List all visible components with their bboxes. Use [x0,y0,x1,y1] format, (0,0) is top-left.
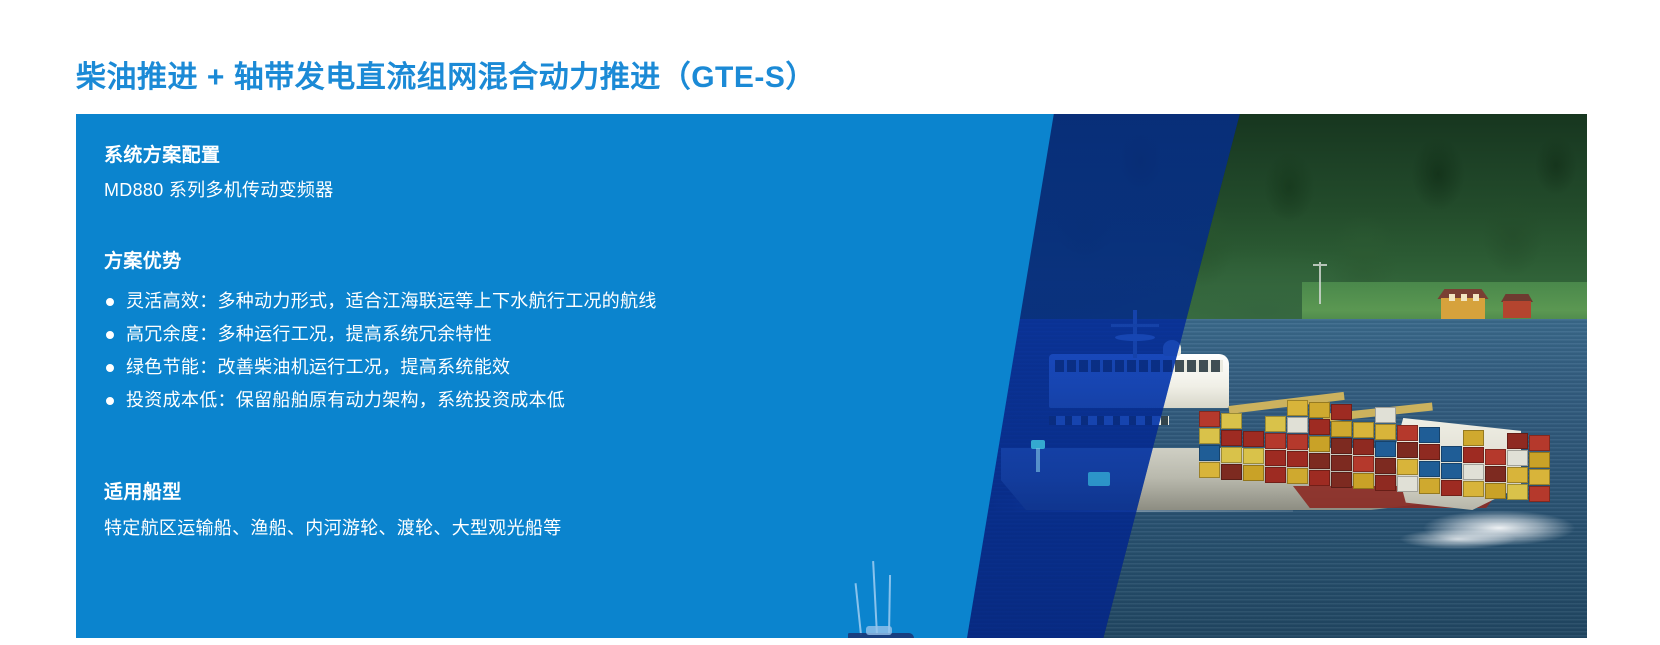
shipping-container [1353,439,1374,455]
bullet-dot-icon [106,364,114,372]
sailboat-cabin [866,626,892,635]
shipping-container [1309,419,1330,435]
shipping-container [1441,446,1462,462]
shipping-container [1463,447,1484,463]
shipping-container [1265,467,1286,483]
list-item: 绿色节能：改善柴油机运行工况，提高系统能效 [104,351,864,384]
shipping-container [1287,468,1308,484]
shipping-container [1221,430,1242,446]
spacer [104,433,864,477]
shipping-container [1529,469,1550,485]
shipping-container [1397,442,1418,458]
shipping-container [1419,444,1440,460]
shipping-container [1529,486,1550,502]
shipping-container [1375,475,1396,491]
shipping-container [1485,449,1506,465]
shipping-container [1463,481,1484,497]
config-heading: 系统方案配置 [104,140,864,167]
shipping-container [1199,445,1220,461]
shipping-container [1221,464,1242,480]
shipping-container [1309,402,1330,418]
bullet-dot-icon [106,397,114,405]
house-window [1473,294,1479,301]
shipping-container [1419,478,1440,494]
shipping-container [1375,424,1396,440]
shipping-container [1375,407,1396,423]
shipping-container [1243,465,1264,481]
slide-page: 柴油推进 + 轴带发电直流组网混合动力推进（GTE-S） [0,0,1660,645]
shipping-container [1331,472,1352,488]
shipping-container [1331,438,1352,454]
shipping-container [1441,463,1462,479]
panel-content: 系统方案配置 MD880 系列多机传动变频器 方案优势 灵活高效：多种动力形式，… [104,140,864,540]
ship-photo [967,114,1587,638]
advantages-list: 灵活高效：多种动力形式，适合江海联运等上下水航行工况的航线 高冗余度：多种运行工… [104,285,864,417]
shipping-container [1375,458,1396,474]
shipping-container [1199,428,1220,444]
shipping-container [1331,455,1352,471]
shipping-container [1529,435,1550,451]
shipping-container [1287,451,1308,467]
bullet-dot-icon [106,331,114,339]
house-window [1449,294,1455,301]
shipping-container [1331,404,1352,420]
list-item-label: 高冗余度：多种运行工况，提高系统冗余特性 [126,324,492,344]
shipping-container [1309,453,1330,469]
shipping-container [1221,413,1242,429]
list-item: 灵活高效：多种动力形式，适合江海联运等上下水航行工况的航线 [104,285,864,318]
shipping-container [1419,427,1440,443]
list-item-label: 灵活高效：多种动力形式，适合江海联运等上下水航行工况的航线 [126,291,657,311]
shipping-container [1265,433,1286,449]
shipping-container [1441,480,1462,496]
shipping-container [1353,456,1374,472]
shipping-container [1397,425,1418,441]
shipping-container [1375,441,1396,457]
navigation-marker [1088,472,1110,486]
shipping-container [1265,416,1286,432]
shipping-container [1309,470,1330,486]
shipping-container [1397,459,1418,475]
shipping-container [1397,476,1418,492]
advantages-heading: 方案优势 [104,246,864,273]
shipping-container [1331,421,1352,437]
shipping-container [1507,433,1528,449]
list-item-label: 投资成本低：保留船舶原有动力架构，系统投资成本低 [126,390,565,410]
shipping-container [1265,450,1286,466]
buoy-stem [1036,448,1040,472]
ship-types-heading: 适用船型 [104,477,864,504]
sailboat [836,559,946,638]
list-item-label: 绿色节能：改善柴油机运行工况，提高系统能效 [126,357,510,377]
list-item: 高冗余度：多种运行工况，提高系统冗余特性 [104,318,864,351]
shipping-container [1309,436,1330,452]
shipping-container [1507,450,1528,466]
bullet-dot-icon [106,298,114,306]
shipping-container [1463,430,1484,446]
shipping-container [1243,448,1264,464]
shipping-container [1287,417,1308,433]
shipping-container [1353,422,1374,438]
utility-pole [1319,262,1321,304]
sailboat-mast [872,561,878,635]
shipping-container [1287,400,1308,416]
sailboat-mast [855,583,862,635]
page-title: 柴油推进 + 轴带发电直流组网混合动力推进（GTE-S） [76,52,816,96]
bow-wave-secondary [1383,526,1533,552]
list-item: 投资成本低：保留船舶原有动力架构，系统投资成本低 [104,384,864,417]
shipping-container [1485,483,1506,499]
house-window [1461,294,1467,301]
shipping-container [1507,467,1528,483]
navigation-buoy [1031,440,1045,472]
shipping-container [1485,466,1506,482]
shipping-container [1199,462,1220,478]
shipping-container [1199,411,1220,427]
shipping-container [1221,447,1242,463]
shipping-container [1507,484,1528,500]
shipping-container [1243,431,1264,447]
shipping-container [1463,464,1484,480]
ship-types-value: 特定航区运输船、渔船、内河游轮、渡轮、大型观光船等 [104,514,864,540]
shipping-container [1287,434,1308,450]
shipping-container [1529,452,1550,468]
container-ship [993,310,1553,540]
shipping-container [1419,461,1440,477]
config-value: MD880 系列多机传动变频器 [104,176,864,202]
spacer [104,202,864,246]
content-panel: 系统方案配置 MD880 系列多机传动变频器 方案优势 灵活高效：多种动力形式，… [76,114,1587,638]
shipping-container [1353,473,1374,489]
